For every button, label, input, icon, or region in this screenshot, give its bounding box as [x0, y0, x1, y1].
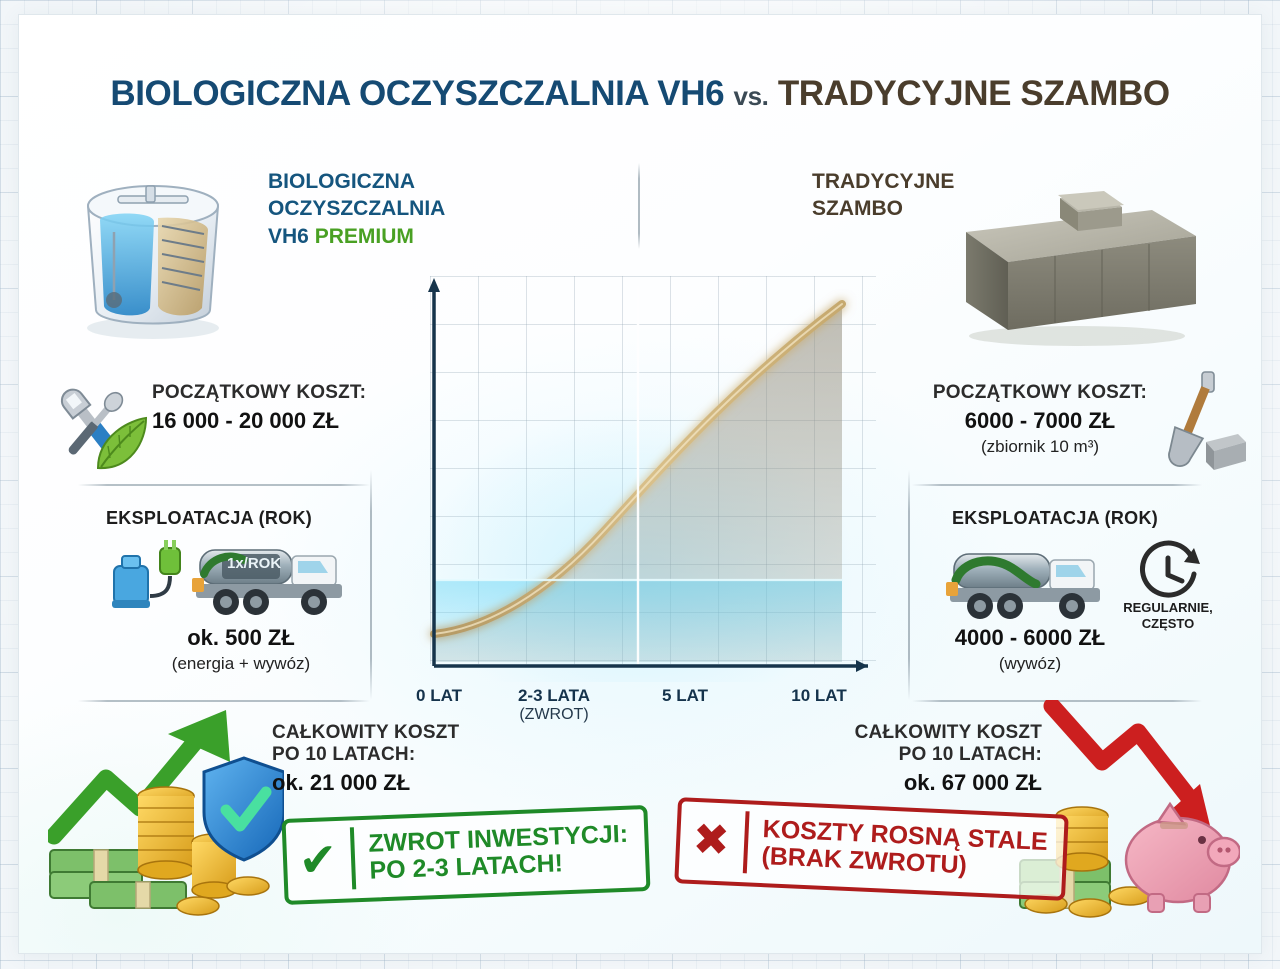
left-heading-premium: PREMIUM — [315, 225, 414, 248]
shovel-and-brick-icon — [1140, 368, 1248, 478]
x-tick-2-label: 5 LAT — [662, 686, 708, 705]
x-tick-3: 10 LAT — [764, 686, 874, 706]
left-heading-line3: VH6 PREMIUM — [268, 223, 445, 250]
left-heading-vh6: VH6 — [268, 225, 315, 248]
roi-stamp-text: ZWROT INWESTYCJI: PO 2-3 LATACH! — [368, 821, 630, 885]
concrete-septic-tank-image — [952, 170, 1202, 350]
left-total-value: ok. 21 000 ZŁ — [272, 770, 459, 796]
vh6-treatment-plant-image — [58, 160, 248, 350]
right-initial-cost-block: POCZĄTKOWY KOSZT: 6000 - 7000 ZŁ (zbiorn… — [930, 382, 1150, 457]
right-initial-cost-note: (zbiornik 10 m³) — [930, 437, 1150, 457]
x-tick-2: 5 LAT — [630, 686, 740, 706]
septic-truck-icon-right — [940, 534, 1120, 632]
left-heading-line2: OCZYSZCZALNIA — [268, 195, 445, 222]
right-initial-cost-label: POCZĄTKOWY KOSZT: — [930, 382, 1150, 404]
right-operation-value: 4000 - 6000 ZŁ — [930, 625, 1130, 651]
left-column-heading: BIOLOGICZNA OCZYSZCZALNIA VH6 PREMIUM — [268, 168, 445, 250]
roi-stamp-positive: ✔ ZWROT INWESTYCJI: PO 2-3 LATACH! — [281, 805, 650, 905]
right-heading-line1: TRADYCYJNE — [812, 168, 954, 195]
divider-top-center — [638, 163, 640, 249]
cross-icon: ✖ — [691, 809, 750, 873]
x-tick-3-label: 10 LAT — [791, 686, 846, 705]
pump-and-plug-icon — [110, 540, 194, 620]
left-operation-cost-block: ok. 500 ZŁ (energia + wywóz) — [126, 625, 356, 674]
cost-comparison-chart: 0 LAT 2-3 LATA (ZWROT) 5 LAT 10 LAT — [398, 262, 878, 682]
left-total-label-line2: PO 10 LATACH: — [272, 744, 459, 766]
x-axis-arrow — [856, 660, 868, 672]
right-total-value: ok. 67 000 ZŁ — [790, 770, 1042, 796]
right-operation-note: (wywóz) — [930, 654, 1130, 674]
page-title: BIOLOGICZNA OCZYSZCZALNIA VH6 vs. TRADYC… — [0, 74, 1280, 114]
left-operation-value: ok. 500 ZŁ — [126, 625, 356, 651]
left-operation-label: EKSPLOATACJA (ROK) — [106, 508, 312, 529]
y-axis-arrow — [428, 278, 440, 292]
roi-stamp-negative: ✖ KOSZTY ROSNĄ STALE (BRAK ZWROTU) — [674, 797, 1069, 901]
divider-left-chart — [370, 470, 372, 700]
x-tick-1-label: 2-3 LATA — [518, 686, 590, 705]
right-total-label-line1: CAŁKOWITY KOSZT — [790, 722, 1042, 744]
left-initial-cost-value: 16 000 - 20 000 ZŁ — [152, 408, 366, 434]
x-tick-0: 0 LAT — [396, 686, 482, 706]
left-total-label-line1: CAŁKOWITY KOSZT — [272, 722, 459, 744]
left-operation-note: (energia + wywóz) — [126, 654, 356, 674]
clock-label-line2: CZĘSTO — [1122, 616, 1214, 632]
x-tick-1-sublabel: (ZWROT) — [490, 706, 618, 724]
x-tick-0-label: 0 LAT — [416, 686, 462, 705]
right-total-block: CAŁKOWITY KOSZT PO 10 LATACH: ok. 67 000… — [790, 722, 1042, 796]
clock-refresh-icon — [1132, 540, 1204, 608]
left-initial-cost-block: POCZĄTKOWY KOSZT: 16 000 - 20 000 ZŁ — [152, 382, 366, 434]
truck-frequency-badge: 1x/ROK — [227, 555, 281, 572]
checkmark-icon: ✔ — [298, 827, 356, 891]
divider-left-horizontal-1 — [78, 484, 370, 486]
growth-arrow-money-shield-image — [48, 700, 284, 922]
right-column-heading: TRADYCYJNE SZAMBO — [812, 168, 954, 223]
left-initial-cost-label: POCZĄTKOWY KOSZT: — [152, 382, 366, 404]
right-operation-cost-block: 4000 - 6000 ZŁ (wywóz) — [930, 625, 1130, 674]
right-heading-line2: SZAMBO — [812, 195, 954, 222]
title-part-biologiczna: BIOLOGICZNA OCZYSZCZALNIA VH6 — [110, 74, 724, 113]
clock-label-line1: REGULARNIE, — [1122, 600, 1214, 616]
left-total-block: CAŁKOWITY KOSZT PO 10 LATACH: ok. 21 000… — [272, 722, 459, 796]
chart-svg — [398, 262, 878, 682]
clock-label: REGULARNIE, CZĘSTO — [1122, 600, 1214, 633]
left-heading-line1: BIOLOGICZNA — [268, 168, 445, 195]
septic-truck-icon — [186, 530, 366, 628]
title-part-tradycyjne: TRADYCYJNE SZAMBO — [778, 74, 1170, 113]
divider-right-horizontal-1 — [912, 484, 1202, 486]
right-operation-label: EKSPLOATACJA (ROK) — [952, 508, 1158, 529]
right-total-label-line2: PO 10 LATACH: — [790, 744, 1042, 766]
x-tick-1: 2-3 LATA (ZWROT) — [490, 686, 618, 724]
title-vs: vs. — [734, 81, 769, 111]
no-roi-stamp-text: KOSZTY ROSNĄ STALE (BRAK ZWROTU) — [761, 816, 1048, 883]
right-initial-cost-value: 6000 - 7000 ZŁ — [930, 408, 1150, 434]
divider-right-chart — [908, 470, 910, 700]
tools-and-leaf-icon — [38, 372, 150, 480]
